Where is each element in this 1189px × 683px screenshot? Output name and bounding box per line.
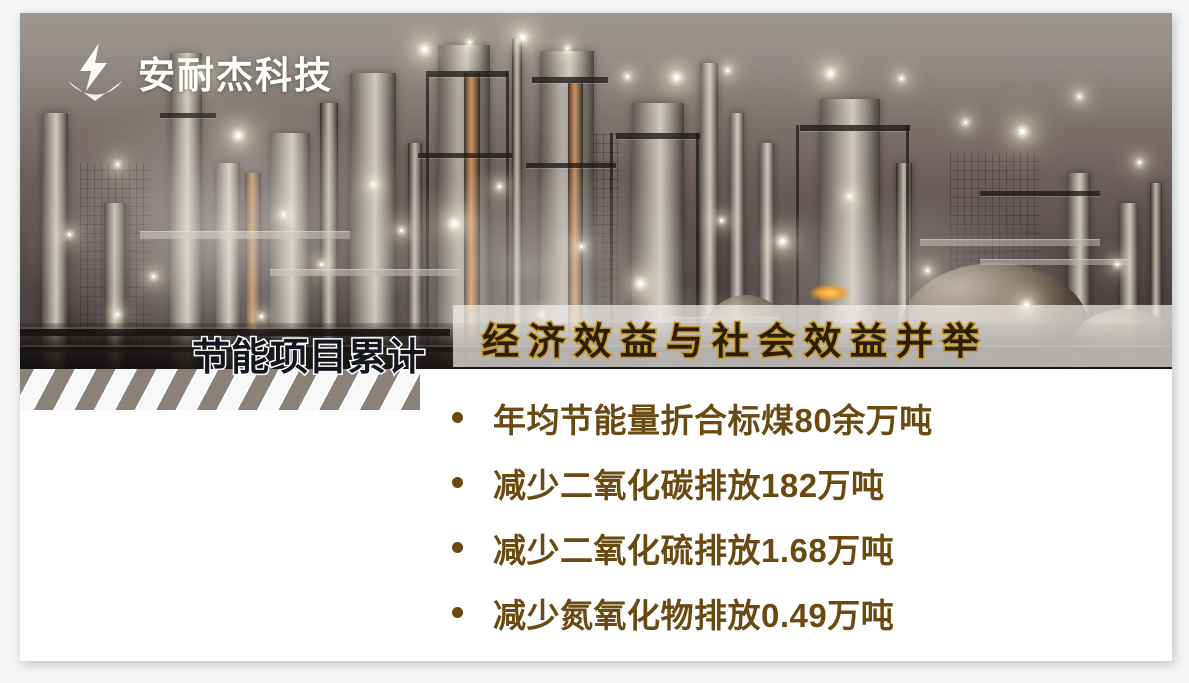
list-item-label: 年均节能量折合标煤80余万吨 xyxy=(493,394,933,442)
photo-light xyxy=(468,41,471,44)
photo-light xyxy=(452,221,457,226)
photo-light xyxy=(638,281,643,286)
photo-light xyxy=(372,183,375,186)
photo-light xyxy=(498,185,501,188)
photo-light xyxy=(236,133,241,138)
photo-light xyxy=(116,313,119,316)
photo-light xyxy=(152,275,155,278)
photo-light xyxy=(1078,95,1081,98)
list-item: 减少氮氧化物排放0.49万吨 xyxy=(438,580,1158,645)
left-title: 节能项目累计 xyxy=(192,326,426,381)
brand-logo: 安耐杰科技 xyxy=(66,41,333,103)
photo-gas-flare xyxy=(810,285,850,301)
photo-light xyxy=(260,315,263,318)
photo-light xyxy=(320,263,323,266)
list-item: 减少二氧化硫排放1.68万吨 xyxy=(438,515,1158,580)
bullet-dot-icon xyxy=(452,412,463,423)
photo-light xyxy=(964,121,967,124)
bullet-dot-icon xyxy=(452,477,463,488)
photo-light xyxy=(116,163,119,166)
photo-light xyxy=(1116,263,1119,266)
bullet-list: 年均节能量折合标煤80余万吨 减少二氧化碳排放182万吨 减少二氧化硫排放1.6… xyxy=(438,385,1158,645)
photo-light xyxy=(580,245,583,248)
photo-light xyxy=(1020,129,1025,134)
photo-light xyxy=(726,69,729,72)
page-title: 经济效益与社会效益并举 xyxy=(482,311,988,365)
photo-light xyxy=(926,269,929,272)
photo-light xyxy=(1138,161,1141,164)
photo-light xyxy=(720,219,723,222)
photo-light xyxy=(282,213,285,216)
photo-light xyxy=(566,47,569,50)
photo-light xyxy=(68,233,71,236)
lightning-bolt-arrow-icon xyxy=(66,41,124,103)
photo-light xyxy=(900,77,903,80)
photo-light xyxy=(780,239,785,244)
photo-light xyxy=(520,35,525,40)
bullet-dot-icon xyxy=(452,542,463,553)
photo-light xyxy=(848,195,851,198)
photo-light xyxy=(422,47,427,52)
slide-canvas: 安耐杰科技 节能项目累计 经济效益与社会效益并举 年均节能量折合标煤80余万吨 … xyxy=(20,13,1172,661)
list-item-label: 减少二氧化硫排放1.68万吨 xyxy=(493,524,894,572)
list-item-label: 减少二氧化碳排放182万吨 xyxy=(493,459,885,507)
photo-light xyxy=(626,75,629,78)
photo-light xyxy=(400,229,403,232)
brand-name: 安耐杰科技 xyxy=(138,45,333,99)
photo-light xyxy=(674,75,679,80)
list-item: 年均节能量折合标煤80余万吨 xyxy=(438,385,1158,450)
bullet-dot-icon xyxy=(452,607,463,618)
list-item: 减少二氧化碳排放182万吨 xyxy=(438,450,1158,515)
list-item-label: 减少氮氧化物排放0.49万吨 xyxy=(493,589,894,637)
photo-light xyxy=(828,71,833,76)
